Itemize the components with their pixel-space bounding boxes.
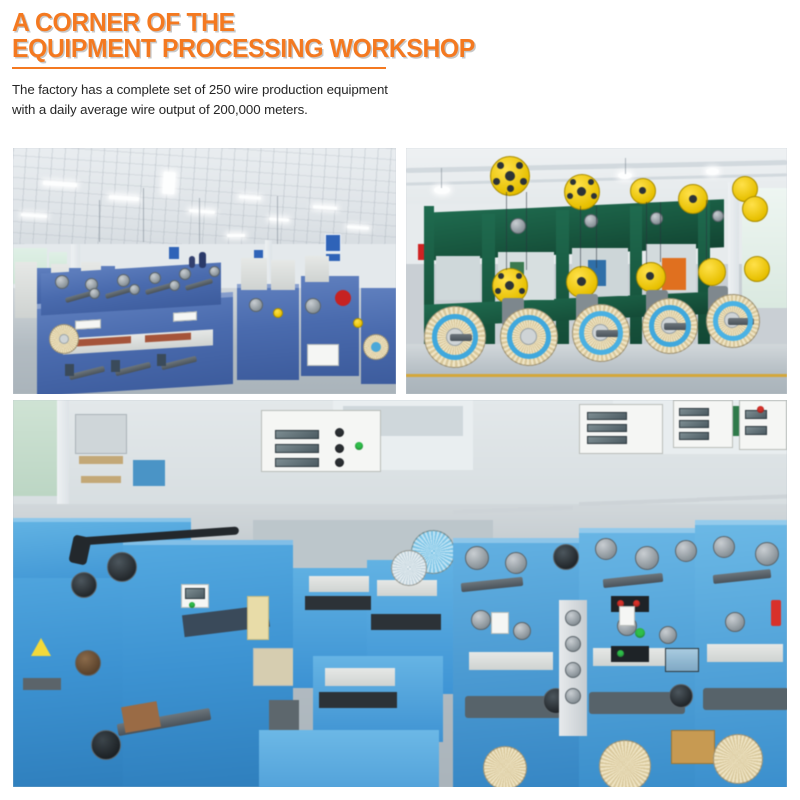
- page-title-line-2: EQUIPMENT PROCESSING WORKSHOP: [12, 36, 765, 62]
- photo-wire-drawing-machine-rows: Ti-16 Ti-17 Ti-20: [13, 400, 787, 787]
- page-subtitle-line-2: with a daily average wire output of 200,…: [12, 100, 788, 120]
- photo-left-scene: [13, 148, 396, 394]
- photo-green-extrusion-line-with-cable-reels: [406, 148, 787, 394]
- title-underline-rule: [12, 67, 386, 69]
- photo-wire-winding-workshop-overview: [13, 148, 396, 394]
- page-title: A CORNER OF THE EQUIPMENT PROCESSING WOR…: [12, 10, 765, 62]
- page-subtitle: The factory has a complete set of 250 wi…: [12, 80, 788, 119]
- photo-bottom-scene: Ti-16 Ti-17 Ti-20: [13, 400, 787, 787]
- page-subtitle-line-1: The factory has a complete set of 250 wi…: [12, 80, 788, 100]
- page-header: A CORNER OF THE EQUIPMENT PROCESSING WOR…: [12, 10, 788, 119]
- page-title-line-1: A CORNER OF THE: [12, 10, 765, 36]
- photo-right-scene: [406, 148, 787, 394]
- workshop-page: A CORNER OF THE EQUIPMENT PROCESSING WOR…: [0, 0, 800, 800]
- top-photo-row: [13, 148, 787, 394]
